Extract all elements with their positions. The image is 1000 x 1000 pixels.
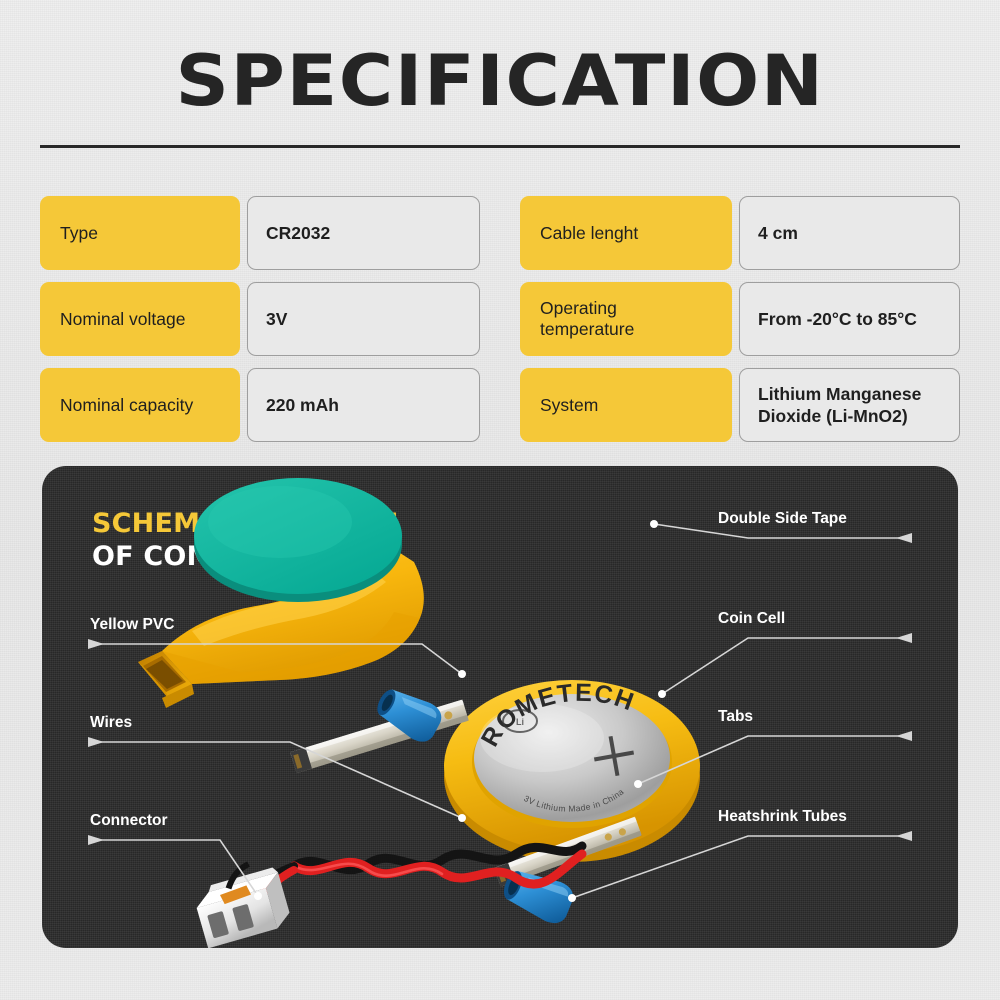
spec-column-gap: [480, 196, 520, 442]
spec-value: Lithium Manganese Dioxide (Li-MnO2): [739, 368, 960, 442]
spec-label: Operating temperature: [520, 282, 732, 356]
spec-row: Nominal capacity 220 mAh: [40, 368, 480, 442]
spec-column-right: Cable lenght 4 cm Operating temperature …: [520, 196, 960, 442]
spec-row: Operating temperature From -20°C to 85°C: [520, 282, 960, 356]
schematic-panel: SCHEMATIC LAYOUT OF COMPONENTS: [42, 466, 958, 948]
spec-row: Nominal voltage 3V: [40, 282, 480, 356]
double-side-tape-disc: [194, 478, 402, 602]
spec-value: From -20°C to 85°C: [739, 282, 960, 356]
spec-label: System: [520, 368, 732, 442]
spec-label: Nominal voltage: [40, 282, 240, 356]
callout-connector: Connector: [90, 812, 168, 830]
spec-value: 220 mAh: [247, 368, 480, 442]
spec-column-left: Type CR2032 Nominal voltage 3V Nominal c…: [40, 196, 480, 442]
spec-row: System Lithium Manganese Dioxide (Li-MnO…: [520, 368, 960, 442]
exploded-product-illustration: ROMETECH 3V Lithium Made in China Li: [42, 466, 958, 948]
title-divider: [40, 145, 960, 148]
spec-label: Type: [40, 196, 240, 270]
callout-heatshrink-tubes: Heatshrink Tubes: [718, 808, 847, 826]
callout-double-side-tape: Double Side Tape: [718, 510, 847, 528]
callout-wires: Wires: [90, 714, 132, 732]
spec-label: Nominal capacity: [40, 368, 240, 442]
svg-text:Li: Li: [516, 717, 524, 727]
specification-table: Type CR2032 Nominal voltage 3V Nominal c…: [40, 196, 960, 442]
spec-row: Cable lenght 4 cm: [520, 196, 960, 270]
callout-tabs: Tabs: [718, 708, 753, 726]
spec-value: 3V: [247, 282, 480, 356]
callout-coin-cell: Coin Cell: [718, 610, 785, 628]
spec-label: Cable lenght: [520, 196, 732, 270]
callout-yellow-pvc: Yellow PVC: [90, 616, 174, 634]
coin-cell-battery: ROMETECH 3V Lithium Made in China Li: [444, 679, 700, 862]
spec-value: CR2032: [247, 196, 480, 270]
page-background: SPECIFICATION Type CR2032 Nominal voltag…: [0, 0, 1000, 1000]
page-title: SPECIFICATION: [0, 44, 1000, 118]
spec-value: 4 cm: [739, 196, 960, 270]
spec-row: Type CR2032: [40, 196, 480, 270]
